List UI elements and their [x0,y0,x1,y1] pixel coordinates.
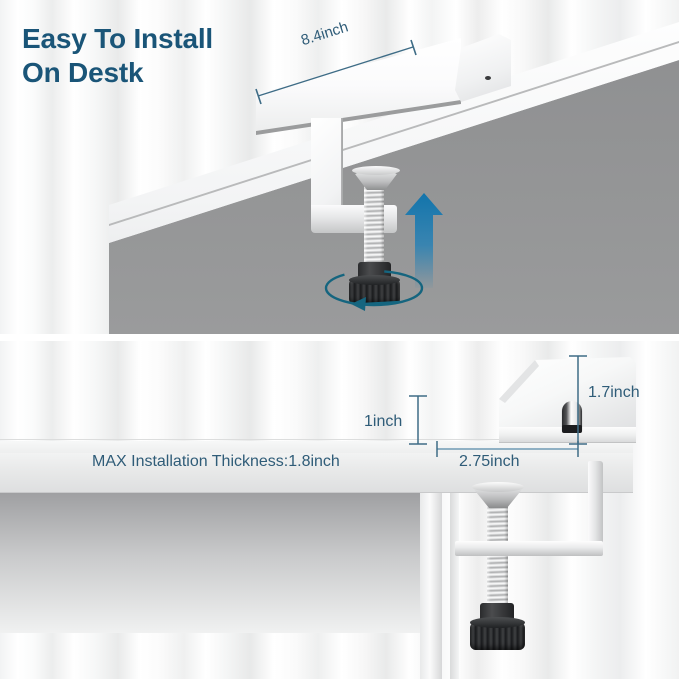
dimension-label-1inch: 1inch [364,413,402,431]
dimension-1-7inch [569,356,587,444]
infographic-stage: Easy To Install On Destk 8.4inch [0,0,679,679]
dimension-label-1-7inch: 1.7inch [588,384,640,402]
max-thickness-note: MAX Installation Thickness:1.8inch [92,453,340,471]
dimension-label-2-75inch: 2.75inch [459,453,520,471]
panel-divider [0,334,679,341]
dimension-1inch [409,396,427,444]
